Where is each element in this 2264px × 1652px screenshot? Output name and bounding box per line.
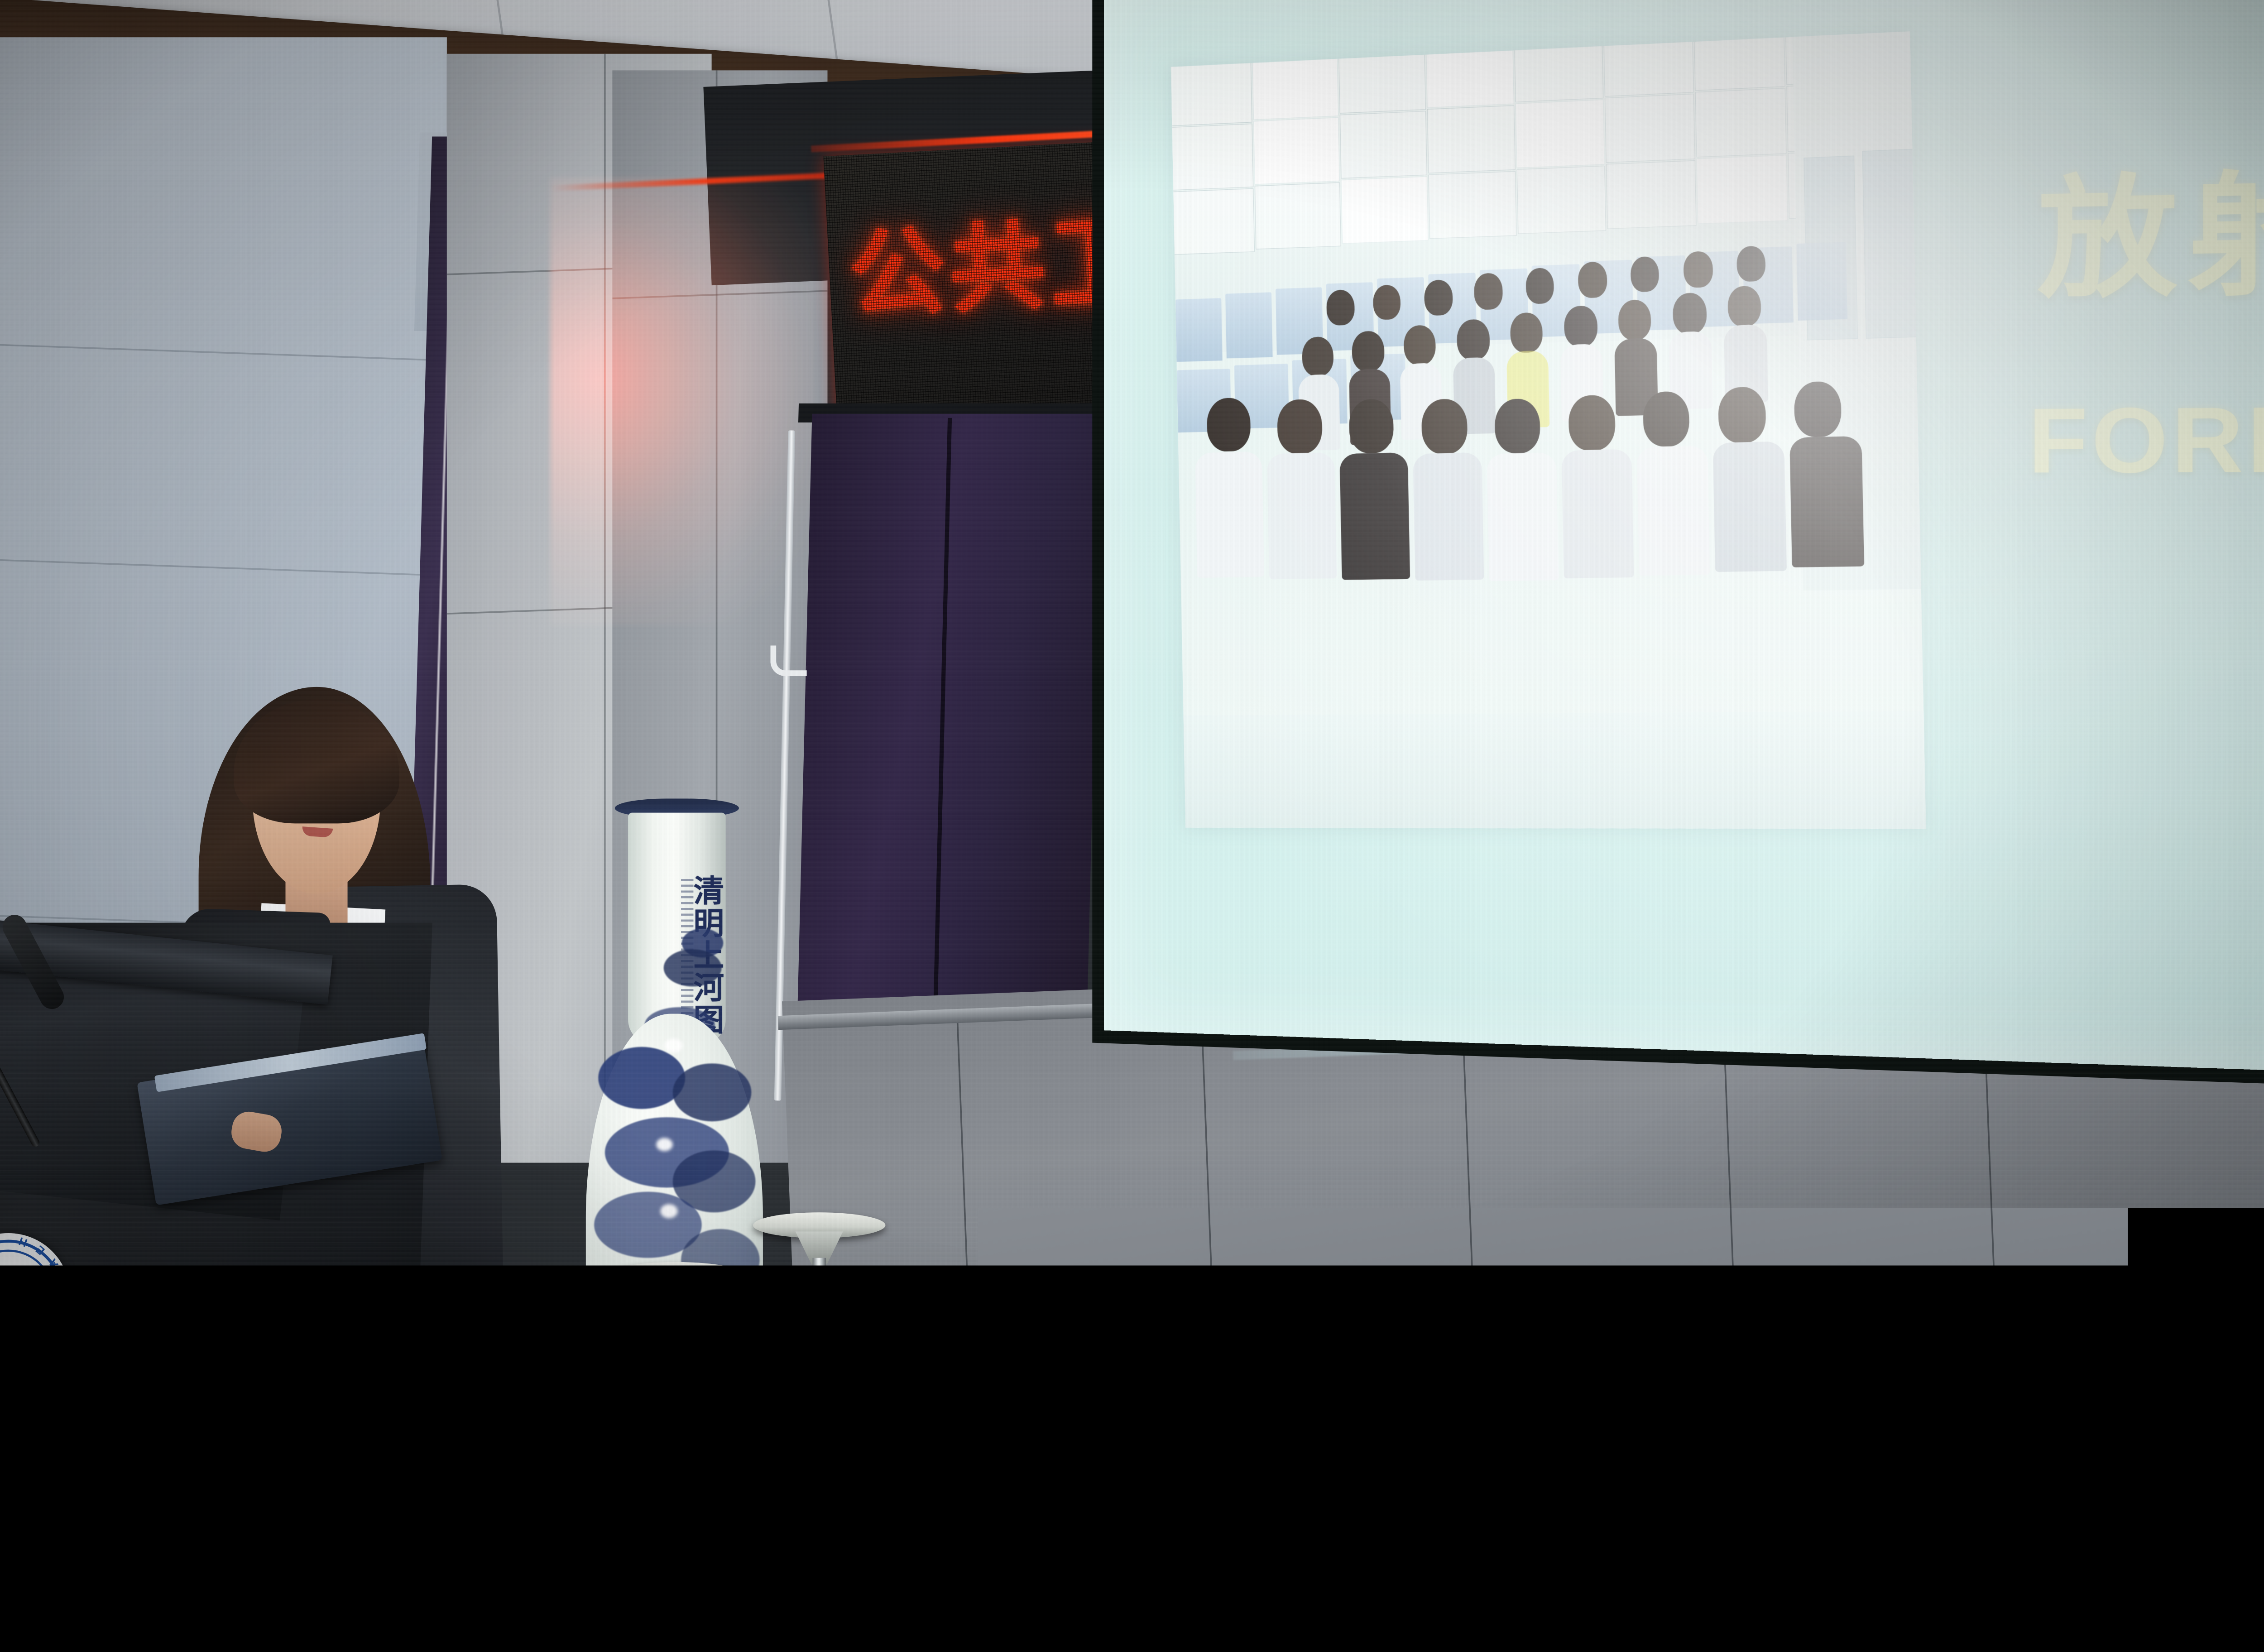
- emblem-arc-letter: T: [57, 1295, 70, 1304]
- emblem-arc-text: PUBLIC HEALTH: [0, 1233, 70, 1357]
- photo-students-group: [1176, 293, 1924, 753]
- slide-title-chinese: 放射二班: [2038, 158, 2264, 309]
- slide-title-english: FOREVER: [2028, 391, 2264, 487]
- vase-neck: 清明上河图: [628, 813, 726, 1045]
- dark-floor-area: [807, 1345, 1391, 1510]
- slide-group-photo: [1171, 31, 1926, 829]
- lecture-hall-scene: 公共卫生学: [0, 0, 2264, 1509]
- emblem-arc-letter: L: [55, 1276, 69, 1286]
- photo-front-desk: [1171, 711, 1926, 829]
- cable-hook: [770, 645, 806, 676]
- emblem-arc-letter: H: [16, 1234, 29, 1249]
- emblem-arc-letter: E: [33, 1242, 47, 1258]
- podium-emblem: PUBLIC HEALTH 公共卫生学院: [0, 1233, 70, 1357]
- box-label-sticker: [525, 1446, 533, 1455]
- emblem-chinese-text: 公共卫生学院: [0, 1321, 70, 1336]
- emblem-arc-letter: A: [46, 1256, 61, 1270]
- projection-screen: 放射二班 FOREVER: [1104, 0, 2264, 1074]
